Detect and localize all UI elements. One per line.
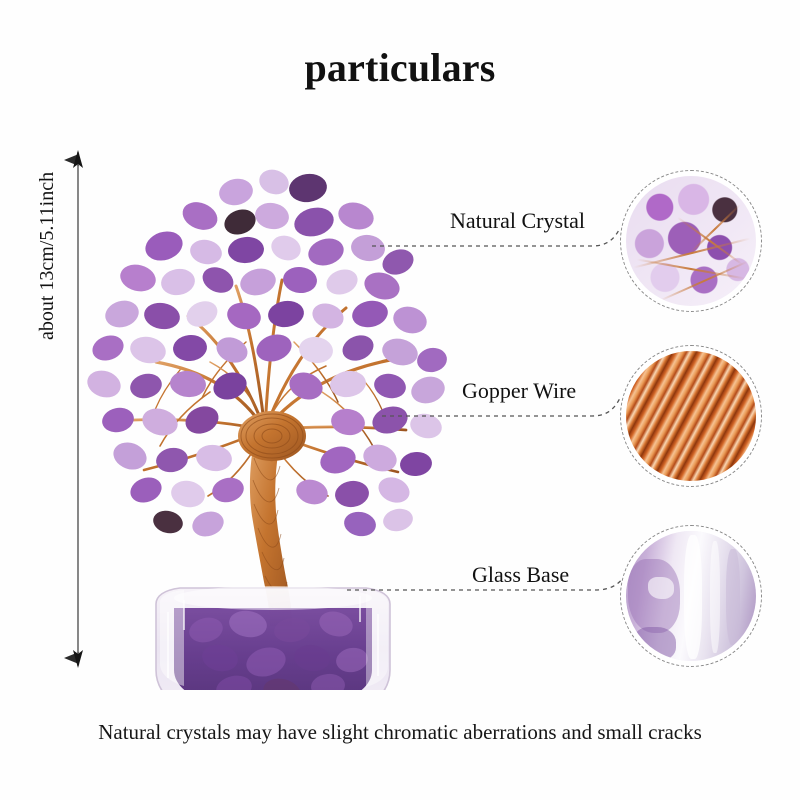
callout-label-natural-crystal: Natural Crystal (450, 208, 585, 234)
height-dimension-label: about 13cm/5.11inch (36, 80, 59, 340)
disclaimer-caption: Natural crystals may have slight chromat… (0, 720, 800, 745)
natural-crystal-detail-image (626, 176, 756, 306)
product-infographic: particulars about 13cm/5.11inch (0, 0, 800, 800)
callout-label-copper-wire: Gopper Wire (462, 378, 576, 404)
callout-label-glass-base: Glass Base (472, 562, 569, 588)
natural-crystal-detail (620, 170, 762, 312)
glass-base-detail (620, 525, 762, 667)
copper-wire-detail-image (626, 351, 756, 481)
glass-base-detail-image (626, 531, 756, 661)
copper-wire-detail (620, 345, 762, 487)
